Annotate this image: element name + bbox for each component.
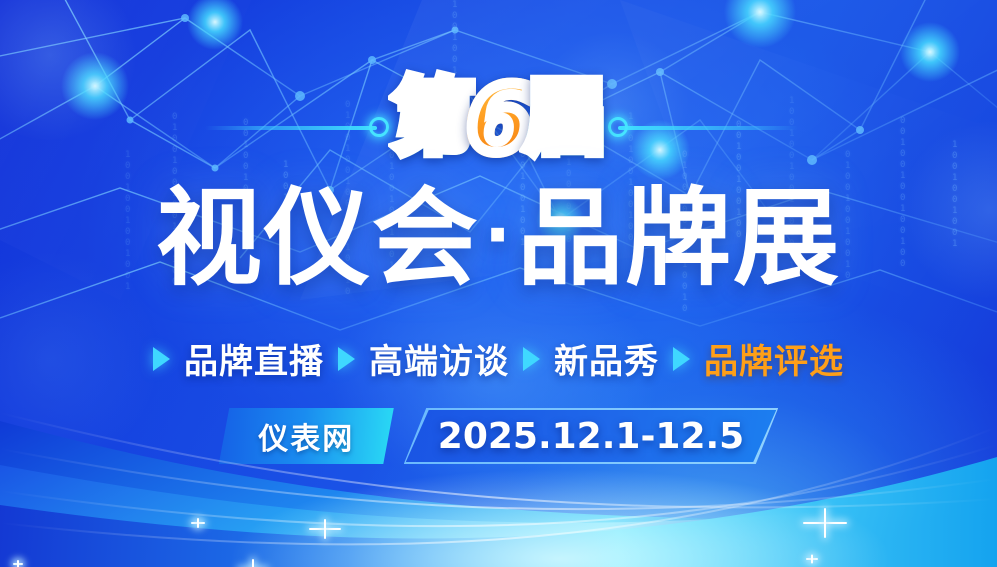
feature-list: 品牌直播 高端访谈 新品秀 品牌评选 — [0, 334, 997, 383]
edition-prefix: 第 — [393, 78, 471, 158]
page-title: 视仪会·品牌展 — [0, 182, 997, 296]
feature-item-1[interactable]: 高端访谈 — [369, 334, 509, 383]
date-badge: 2025.12.1-12.5 — [404, 408, 778, 464]
edition-logo: 第6届 — [0, 68, 997, 160]
event-banner: 1 0 0 1 0 0 1 0 0 1 0 0 1 0 1 0 0 1 0 0 … — [0, 0, 997, 567]
feature-item-2[interactable]: 新品秀 — [554, 334, 659, 383]
triangle-right-icon — [338, 347, 355, 371]
sparkle-star — [190, 515, 206, 531]
sparkle-star — [805, 552, 819, 566]
footer-bar: 仪表网 2025.12.1-12.5 — [0, 408, 997, 464]
title-left: 视仪会 — [156, 177, 480, 300]
feature-item-0[interactable]: 品牌直播 — [184, 334, 324, 383]
feature-item-3[interactable]: 品牌评选 — [704, 334, 844, 383]
sparkle-star — [802, 500, 848, 546]
triangle-right-icon — [673, 347, 690, 371]
triangle-right-icon — [523, 347, 540, 371]
date-range-text: 2025.12.1-12.5 — [438, 416, 744, 457]
edition-suffix: 届 — [526, 78, 604, 158]
title-right: 品牌展 — [517, 177, 841, 300]
triangle-right-icon — [153, 347, 170, 371]
brand-badge[interactable]: 仪表网 — [219, 408, 394, 464]
sparkle-star — [308, 512, 342, 546]
sparkle-star — [12, 558, 24, 567]
sparkle-star — [238, 554, 268, 567]
edition-number: 6 — [467, 74, 529, 166]
title-separator: · — [484, 193, 513, 277]
